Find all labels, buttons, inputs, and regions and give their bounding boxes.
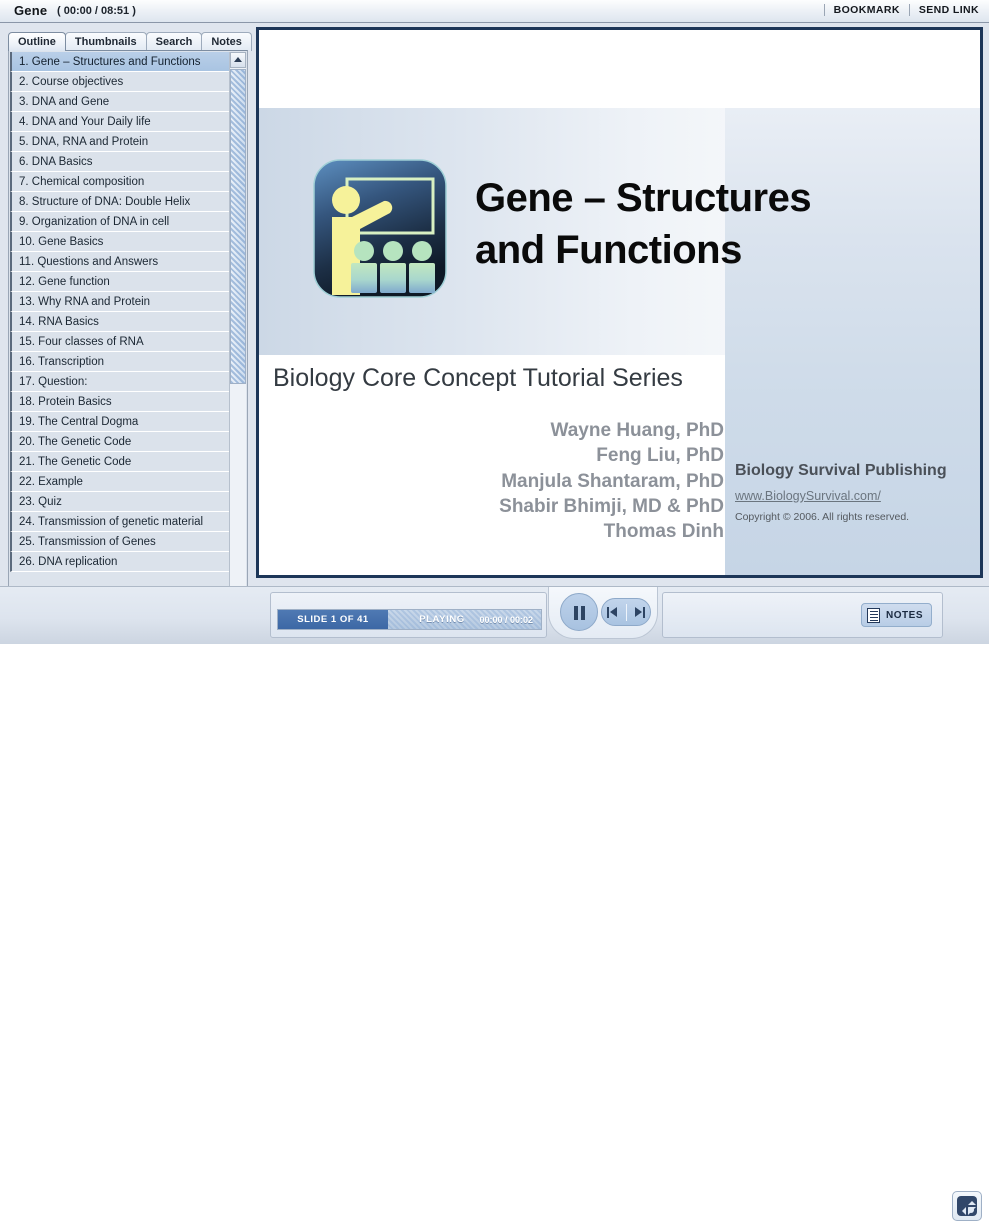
divider [909,4,910,16]
send-link-button[interactable]: SEND LINK [919,4,979,16]
seek-panel: SLIDE 1 OF 41 PLAYING 00:00 / 00:02 [270,592,547,638]
author-name: Feng Liu, PhD [379,443,724,468]
playback-status: PLAYING [396,610,488,629]
outline-panel: 1. Gene – Structures and Functions2. Cou… [8,50,248,606]
step-forward-bar-icon [643,607,645,618]
outline-item[interactable]: 23. Quiz [10,492,230,512]
presentation-total-time: ( 00:00 / 08:51 ) [57,5,136,17]
previous-slide-button[interactable] [607,607,621,618]
slide-counter: SLIDE 1 OF 41 [278,610,388,629]
author-name: Thomas Dinh [379,519,724,544]
pause-button[interactable] [560,593,598,631]
notes-button-label: NOTES [886,610,923,621]
outline-item[interactable]: 11. Questions and Answers [10,252,230,272]
outline-item[interactable]: 26. DNA replication [10,552,230,572]
left-panel: Outline Thumbnails Search Notes 1. Gene … [2,25,252,585]
outline-item[interactable]: 2. Course objectives [10,72,230,92]
outline-item[interactable]: 10. Gene Basics [10,232,230,252]
step-forward-triangle-icon [635,607,642,617]
slide-authors: Wayne Huang, PhD Feng Liu, PhD Manjula S… [379,418,724,544]
pause-icon [574,606,586,620]
outline-item[interactable]: 8. Structure of DNA: Double Helix [10,192,230,212]
publisher-name: Biology Survival Publishing [735,462,980,480]
transport-controls [548,587,658,639]
presentation-player: Gene ( 00:00 / 08:51 ) BOOKMARK SEND LIN… [0,0,989,644]
triangle-up-icon [234,57,242,62]
outline-item[interactable]: 21. The Genetic Code [10,452,230,472]
outline-list[interactable]: 1. Gene – Structures and Functions2. Cou… [10,52,230,606]
bookmark-button[interactable]: BOOKMARK [834,4,900,16]
slide-subtitle: Biology Core Concept Tutorial Series [273,364,683,393]
tab-outline[interactable]: Outline [8,32,66,51]
presentation-title: Gene [14,3,47,18]
outline-item[interactable]: 19. The Central Dogma [10,412,230,432]
outline-item[interactable]: 4. DNA and Your Daily life [10,112,230,132]
outline-item[interactable]: 22. Example [10,472,230,492]
publisher-block: Biology Survival Publishing www.BiologyS… [735,462,980,523]
title-bar: Gene ( 00:00 / 08:51 ) BOOKMARK SEND LIN… [0,0,989,23]
teacher-classroom-icon [313,159,447,298]
outline-item[interactable]: 18. Protein Basics [10,392,230,412]
tab-label: Notes [211,36,242,48]
notes-button[interactable]: NOTES [861,603,932,627]
slide-title-line-2: and Functions [475,224,905,276]
outline-item[interactable]: 17. Question: [10,372,230,392]
author-name: Manjula Shantaram, PhD [379,469,724,494]
scrollbar-thumb[interactable] [230,69,246,384]
slide-stage[interactable]: Gene – Structures and Functions Biology … [256,27,983,578]
fullscreen-button[interactable] [952,1191,982,1221]
outline-scrollbar[interactable] [229,52,246,606]
arrow-left-icon [962,1207,966,1215]
outline-item[interactable]: 13. Why RNA and Protein [10,292,230,312]
copyright-notice: Copyright © 2006. All rights reserved. [735,511,980,523]
slide-canvas: Gene – Structures and Functions Biology … [259,30,980,575]
outline-item[interactable]: 5. DNA, RNA and Protein [10,132,230,152]
author-name: Shabir Bhimji, MD & PhD [379,494,724,519]
scroll-up-arrow-icon[interactable] [230,52,246,68]
step-back-bar-icon [607,607,609,618]
step-back-triangle-icon [610,607,617,617]
panel-tabs: Outline Thumbnails Search Notes [8,31,248,51]
tab-label: Search [156,36,193,48]
outline-item[interactable]: 9. Organization of DNA in cell [10,212,230,232]
outline-item[interactable]: 15. Four classes of RNA [10,332,230,352]
slide-title: Gene – Structures and Functions [475,172,905,276]
tab-notes[interactable]: Notes [201,32,252,51]
outline-item[interactable]: 3. DNA and Gene [10,92,230,112]
tab-search[interactable]: Search [146,32,203,51]
outline-item[interactable]: 20. The Genetic Code [10,432,230,452]
tab-label: Outline [18,36,56,48]
playback-time: 00:00 / 00:02 [479,610,533,629]
outline-item[interactable]: 7. Chemical composition [10,172,230,192]
title-bar-actions: BOOKMARK SEND LINK [815,4,979,16]
player-control-bar: SLIDE 1 OF 41 PLAYING 00:00 / 00:02 [0,586,989,644]
seek-bar[interactable]: SLIDE 1 OF 41 PLAYING 00:00 / 00:02 [277,609,542,630]
outline-item[interactable]: 16. Transcription [10,352,230,372]
divider [626,604,627,621]
outline-item[interactable]: 1. Gene – Structures and Functions [10,52,230,72]
step-button-group [601,598,651,626]
tab-thumbnails[interactable]: Thumbnails [65,32,147,51]
arrow-right-icon [968,1207,972,1215]
right-control-panel: NOTES [662,592,943,638]
tab-label: Thumbnails [75,36,137,48]
author-name: Wayne Huang, PhD [379,418,724,443]
publisher-url-link[interactable]: www.BiologySurvival.com/ [735,489,980,503]
slide-title-line-1: Gene – Structures [475,172,905,224]
outline-item[interactable]: 24. Transmission of genetic material [10,512,230,532]
arrow-up-icon [968,1201,976,1205]
outline-item[interactable]: 6. DNA Basics [10,152,230,172]
outline-item[interactable]: 12. Gene function [10,272,230,292]
next-slide-button[interactable] [631,607,645,618]
outline-item[interactable]: 14. RNA Basics [10,312,230,332]
fullscreen-icon [957,1196,977,1216]
outline-item[interactable]: 25. Transmission of Genes [10,532,230,552]
notes-page-icon [867,608,880,623]
divider [824,4,825,16]
